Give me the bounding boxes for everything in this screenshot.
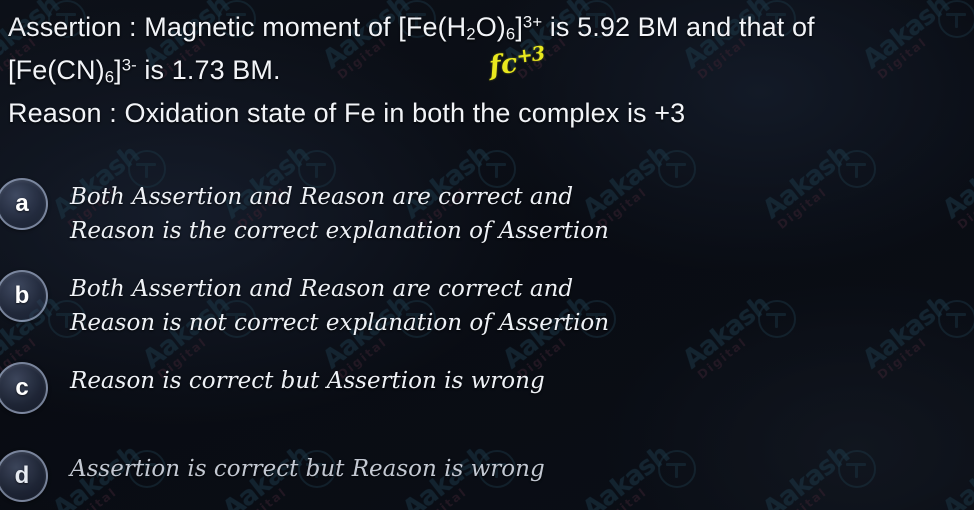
watermark-sub-text: Digital bbox=[776, 161, 861, 231]
option-text-line: Both Assertion and Reason are correct an… bbox=[70, 180, 609, 214]
watermark-logo-icon bbox=[658, 450, 696, 488]
question-line-2-part-b: ] bbox=[114, 55, 122, 85]
superscript-3plus: 3+ bbox=[523, 12, 542, 31]
handwritten-annotation-text: fc bbox=[487, 48, 519, 82]
watermark-sub-text: Digital bbox=[956, 161, 974, 231]
option-text-a: Both Assertion and Reason are correct an… bbox=[70, 180, 609, 248]
watermark-aakash-digital: AakashDigital bbox=[680, 293, 781, 383]
watermark-aakash-digital: AakashDigital bbox=[580, 443, 681, 510]
watermark-brand-text: Aakash bbox=[940, 143, 974, 223]
question-line-2-part-a: [Fe(CN) bbox=[8, 55, 105, 85]
question-line-1: Assertion : Magnetic moment of [Fe(H2O)6… bbox=[8, 6, 974, 49]
watermark-brand-text: Aakash bbox=[760, 443, 854, 510]
watermark-brand-text: Aakash bbox=[940, 443, 974, 510]
subscript-2: 2 bbox=[466, 25, 475, 44]
watermark-sub-text: Digital bbox=[776, 461, 861, 510]
watermark-logo-icon bbox=[758, 300, 796, 338]
option-text-line: Reason is correct but Assertion is wrong bbox=[70, 364, 545, 398]
watermark-logo-icon bbox=[658, 150, 696, 188]
question-line-2-part-c: is 1.73 BM. bbox=[137, 55, 281, 85]
question-line-1-part-a: Assertion : Magnetic moment of [Fe(H bbox=[8, 12, 466, 42]
watermark-aakash-digital: AakashDigital bbox=[860, 293, 961, 383]
watermark-brand-text: Aakash bbox=[760, 143, 854, 223]
option-text-b: Both Assertion and Reason are correct an… bbox=[70, 272, 609, 340]
question-screen: AakashDigitalAakashDigitalAakashDigitalA… bbox=[0, 0, 974, 510]
watermark-logo-icon bbox=[938, 300, 974, 338]
option-text-line: Reason is the correct explanation of Ass… bbox=[70, 214, 609, 248]
watermark-aakash-digital: AakashDigital bbox=[760, 143, 861, 233]
superscript-3minus: 3- bbox=[122, 55, 137, 74]
watermark-logo-icon bbox=[838, 150, 876, 188]
option-text-d: Assertion is correct but Reason is wrong bbox=[70, 452, 545, 486]
watermark-sub-text: Digital bbox=[876, 311, 961, 381]
answer-option-a[interactable]: aBoth Assertion and Reason are correct a… bbox=[0, 178, 609, 248]
watermark-brand-text: Aakash bbox=[860, 293, 954, 373]
answer-option-d[interactable]: dAssertion is correct but Reason is wron… bbox=[0, 450, 545, 502]
watermark-aakash-digital: AakashDigital bbox=[940, 143, 974, 233]
option-text-c: Reason is correct but Assertion is wrong bbox=[70, 364, 545, 398]
watermark-sub-text: Digital bbox=[596, 461, 681, 510]
handwritten-annotation-superscript: +3 bbox=[515, 42, 545, 68]
option-bubble-d[interactable]: d bbox=[0, 450, 48, 502]
question-line-1-part-d: is 5.92 BM and that of bbox=[542, 12, 814, 42]
watermark-aakash-digital: AakashDigital bbox=[940, 443, 974, 510]
question-line-1-part-c: ] bbox=[515, 12, 523, 42]
question-line-1-part-b: O) bbox=[476, 12, 506, 42]
option-bubble-c[interactable]: c bbox=[0, 362, 48, 414]
answer-option-c[interactable]: cReason is correct but Assertion is wron… bbox=[0, 362, 545, 414]
subscript-6b: 6 bbox=[105, 68, 114, 87]
option-bubble-b[interactable]: b bbox=[0, 270, 48, 322]
option-bubble-a[interactable]: a bbox=[0, 178, 48, 230]
option-text-line: Both Assertion and Reason are correct an… bbox=[70, 272, 609, 306]
watermark-aakash-digital: AakashDigital bbox=[760, 443, 861, 510]
watermark-brand-text: Aakash bbox=[680, 293, 774, 373]
option-text-line: Assertion is correct but Reason is wrong bbox=[70, 452, 545, 486]
watermark-sub-text: Digital bbox=[696, 311, 781, 381]
question-line-3: Reason : Oxidation state of Fe in both t… bbox=[8, 92, 974, 135]
watermark-sub-text: Digital bbox=[956, 461, 974, 510]
subscript-6: 6 bbox=[506, 25, 515, 44]
watermark-logo-icon bbox=[838, 450, 876, 488]
option-text-line: Reason is not correct explanation of Ass… bbox=[70, 306, 609, 340]
answer-option-b[interactable]: bBoth Assertion and Reason are correct a… bbox=[0, 270, 609, 340]
watermark-brand-text: Aakash bbox=[580, 443, 674, 510]
